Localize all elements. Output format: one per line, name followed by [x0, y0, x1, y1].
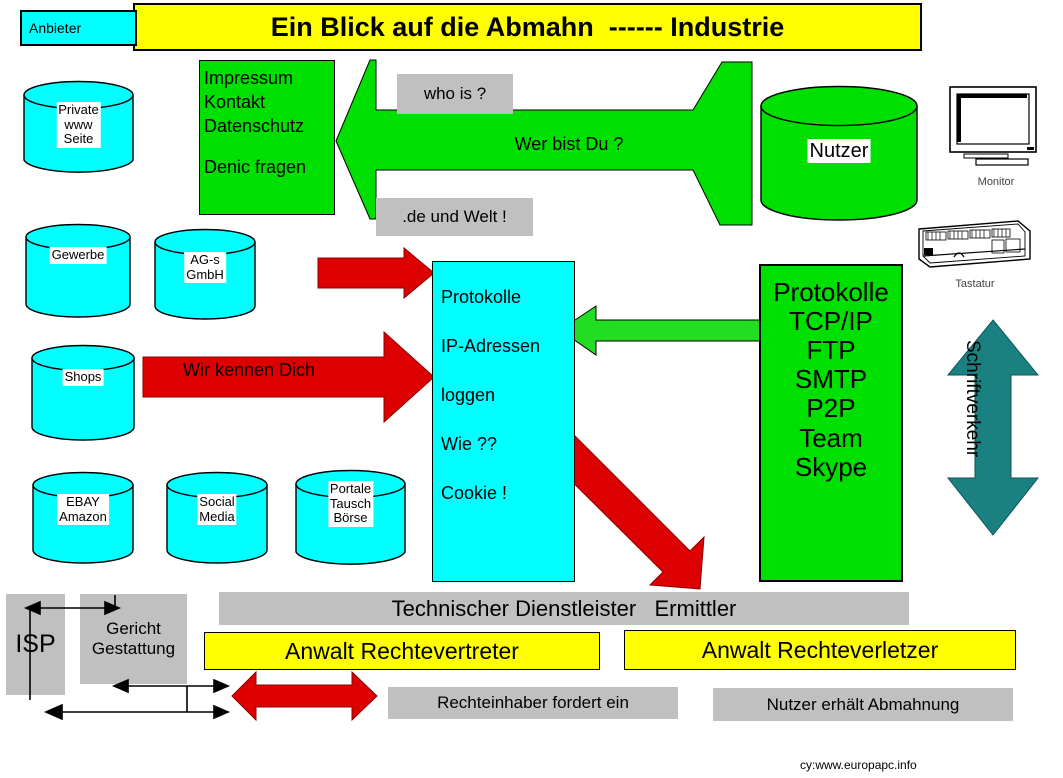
- monitor-caption: Monitor: [948, 176, 1044, 188]
- impressum-box: Impressum Kontakt Datenschutz Denic frag…: [199, 60, 335, 215]
- anwalt-rechtevertreter-label: Anwalt Rechtevertreter: [285, 638, 519, 665]
- protocol-line-2: TCP/IP: [789, 307, 873, 336]
- footer-credit: cy:www.europapc.info: [800, 758, 1000, 774]
- db-label: Private www Seite: [56, 102, 100, 148]
- nutzer-erhaelt-abmahnung-box: Nutzer erhält Abmahnung: [713, 688, 1013, 721]
- keyboard-glyph: [918, 215, 1032, 269]
- nutzer-abmahnung-label: Nutzer erhält Abmahnung: [767, 695, 960, 715]
- de-und-welt-label: .de und Welt !: [402, 207, 507, 227]
- keyboard-caption: Tastatur: [918, 278, 1032, 290]
- wir-kennen-dich-label: Wir kennen Dich: [183, 358, 363, 382]
- impressum-spacer: [204, 138, 334, 156]
- schriftverkehr-label: Schriftverkehr: [957, 340, 983, 540]
- collected-line-3: loggen: [441, 385, 574, 406]
- monitor-icon: Monitor: [948, 85, 1044, 181]
- db-gewerbe: Gewerbe: [24, 223, 132, 319]
- gestattung-label: Gestattung: [92, 639, 175, 659]
- protocol-line-5: P2P: [806, 394, 855, 423]
- page-title: Ein Blick auf die Abmahn ------ Industri…: [271, 12, 785, 43]
- red-arrow-top: [318, 248, 434, 298]
- collected-line-4: Wie ??: [441, 434, 574, 455]
- protocol-line-4: SMTP: [795, 365, 867, 394]
- arrowhead-left-bottom: [46, 705, 62, 719]
- impressum-line-3: Datenschutz: [204, 115, 334, 139]
- anbieter-label: Anbieter: [29, 20, 81, 36]
- db-label: AG-s GmbH: [184, 252, 226, 283]
- isp-box: ISP: [6, 594, 65, 695]
- technischer-dienstleister-label: Technischer Dienstleister Ermittler: [392, 596, 737, 622]
- db-label: Shops: [63, 369, 104, 386]
- protocol-line-7: Skype: [795, 453, 867, 482]
- collected-line-1: Protokolle: [441, 287, 574, 308]
- db-portale-tausch-boerse: Portale Tausch Börse: [294, 468, 407, 568]
- db-shops: Shops: [30, 344, 136, 442]
- anwalt-rechteverletzer-label: Anwalt Rechteverletzer: [702, 637, 939, 664]
- db-label: EBAY Amazon: [57, 494, 109, 525]
- diagram-canvas: Ein Blick auf die Abmahn ------ Industri…: [0, 0, 1063, 778]
- protocol-list-box: Protokolle TCP/IP FTP SMTP P2P Team Skyp…: [759, 264, 903, 582]
- db-ebay-amazon: EBAY Amazon: [31, 471, 135, 565]
- protocol-line-3: FTP: [806, 336, 855, 365]
- anbieter-badge: Anbieter: [20, 10, 137, 46]
- gericht-gestattung-box: Gericht Gestattung: [80, 594, 187, 684]
- arrowhead-right-mid: [214, 680, 228, 692]
- anwalt-rechteverletzer-box: Anwalt Rechteverletzer: [624, 630, 1016, 670]
- red-double-arrow-bottom: [232, 672, 377, 720]
- page-title-banner: Ein Blick auf die Abmahn ------ Industri…: [133, 3, 922, 51]
- impressum-line-2: Kontakt: [204, 91, 334, 115]
- cylinder-shape: [24, 223, 132, 319]
- db-social-media: Social Media: [165, 471, 269, 565]
- arrowhead-right-bottom: [214, 706, 228, 718]
- impressum-denic-line: Denic fragen: [204, 156, 334, 180]
- collected-line-5: Cookie !: [441, 483, 574, 504]
- isp-label: ISP: [15, 630, 55, 659]
- de-und-welt-callout: .de und Welt !: [376, 198, 533, 236]
- wer-bist-du-label: Wer bist Du ?: [489, 131, 649, 157]
- rechteinhaber-fordert-ein-box: Rechteinhaber fordert ein: [388, 687, 678, 719]
- db-label: Portale Tausch Börse: [328, 481, 373, 527]
- impressum-line-1: Impressum: [204, 67, 334, 91]
- green-protocol-arrow: [560, 306, 772, 355]
- protocol-line-6: Team: [799, 424, 863, 453]
- collected-protocols-box: Protokolle IP-Adressen loggen Wie ?? Coo…: [432, 261, 575, 582]
- whois-label: who is ?: [424, 84, 486, 104]
- technischer-dienstleister-box: Technischer Dienstleister Ermittler: [219, 592, 909, 625]
- db-label: Gewerbe: [50, 247, 107, 264]
- monitor-glyph: [948, 85, 1044, 169]
- collected-line-2: IP-Adressen: [441, 336, 574, 357]
- rechteinhaber-label: Rechteinhaber fordert ein: [437, 693, 629, 713]
- whois-callout: who is ?: [397, 74, 513, 114]
- db-private-www-seite: Private www Seite: [22, 80, 135, 175]
- db-ag-s-gmbh: AG-s GmbH: [153, 228, 257, 321]
- anwalt-rechtevertreter-box: Anwalt Rechtevertreter: [204, 632, 600, 670]
- cylinder-shape: [30, 344, 136, 442]
- protocol-line-1: Protokolle: [773, 278, 889, 307]
- db-nutzer: Nutzer: [759, 84, 919, 223]
- db-label: Nutzer: [808, 139, 871, 163]
- db-label: Social Media: [197, 494, 236, 525]
- gericht-label: Gericht: [106, 619, 161, 639]
- keyboard-icon: Tastatur: [918, 215, 1032, 295]
